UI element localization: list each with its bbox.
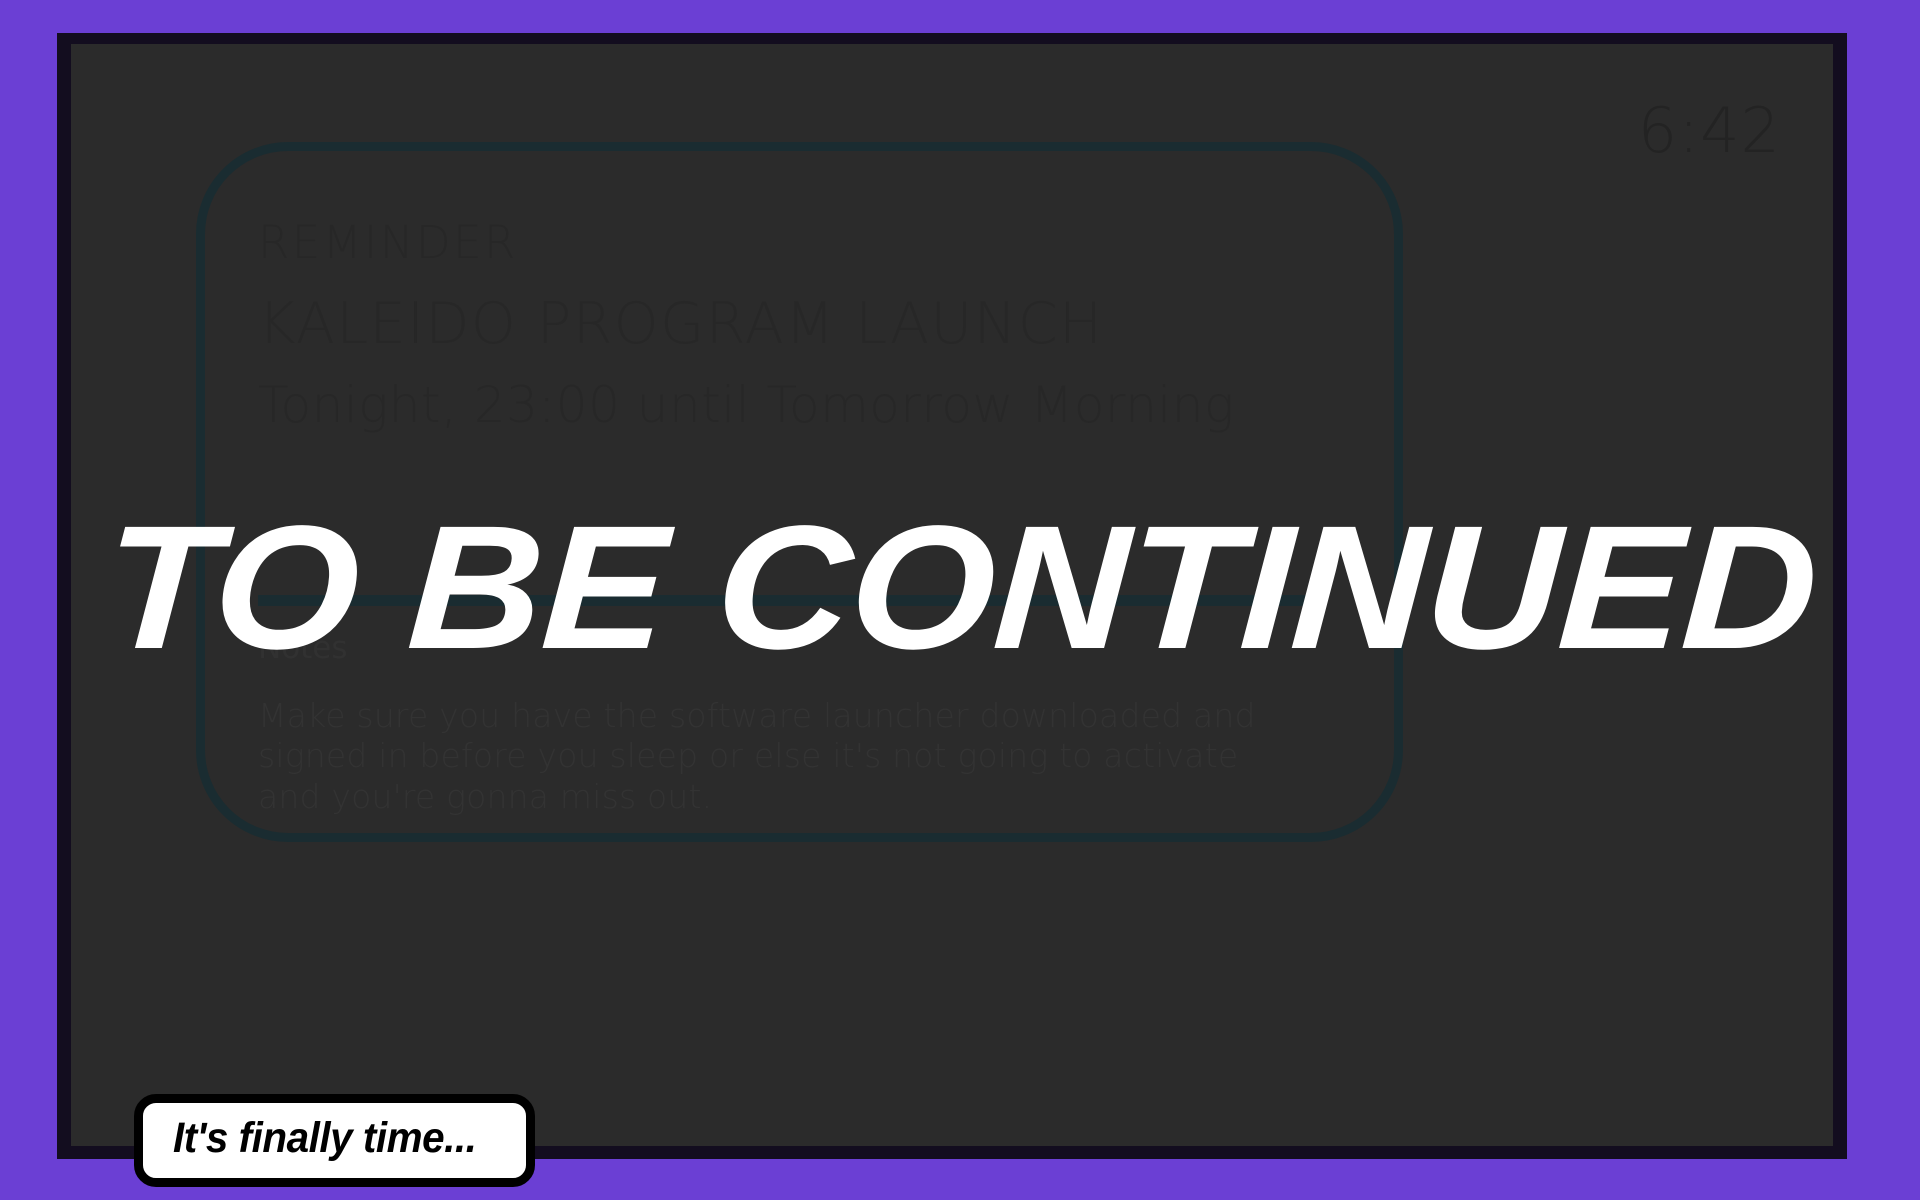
status-clock: 6:42 [1638, 100, 1781, 162]
caption-text: It's finally time... [173, 1116, 476, 1161]
reminder-title: KALEIDO PROGRAM LAUNCH [258, 295, 1318, 355]
reminder-kicker: REMINDER [258, 219, 1318, 266]
reminder-subtitle: Tonight, 23:00 until Tomorrow Morning [258, 379, 1318, 432]
reminder-card-content: REMINDER KALEIDO PROGRAM LAUNCH Tonight,… [258, 219, 1318, 432]
screen: 6:42 REMINDER KALEIDO PROGRAM LAUNCH Ton… [71, 44, 1833, 1146]
caption-box: It's finally time... [134, 1094, 535, 1187]
notes-body: Make sure you have the software launcher… [258, 696, 1268, 817]
notes-section: Notes Make sure you have the software la… [258, 631, 1268, 817]
card-divider [258, 595, 1318, 606]
notes-label: Notes [258, 631, 1268, 665]
page-stage: 6:42 REMINDER KALEIDO PROGRAM LAUNCH Ton… [0, 0, 1920, 1200]
reminder-card[interactable]: REMINDER KALEIDO PROGRAM LAUNCH Tonight,… [196, 142, 1403, 842]
device-bezel: 6:42 REMINDER KALEIDO PROGRAM LAUNCH Ton… [57, 33, 1847, 1159]
